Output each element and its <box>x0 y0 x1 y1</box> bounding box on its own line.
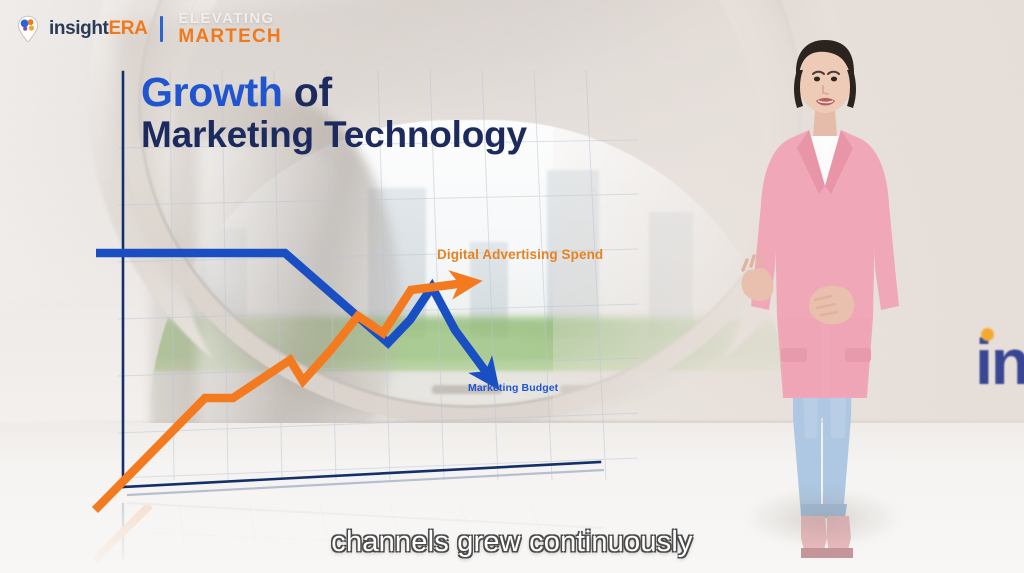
headline-growth-word: Growth <box>141 69 283 115</box>
brand-logo[interactable]: insightERA ELEVATING MARTECH <box>16 11 282 46</box>
chart-label-marketing-budget: Marketing Budget <box>468 382 558 394</box>
tagline-martech: MARTECH <box>178 27 281 46</box>
page-title: Growth of Marketing Technology <box>141 72 527 154</box>
subtitle-caption: channels grew continuously <box>0 526 1024 559</box>
brand-watermark: in <box>975 330 1024 394</box>
video-frame: Growth of Marketing Technology Digital A… <box>0 0 1024 573</box>
headline-line-1: Growth of <box>141 72 527 114</box>
headline-of-word: of <box>294 69 332 115</box>
brand-tagline: ELEVATING MARTECH <box>178 11 281 46</box>
brand-name-part2: ERA <box>108 18 147 39</box>
location-pin-logo-icon <box>16 15 40 43</box>
brand-wordmark: insightERA <box>49 19 147 38</box>
headline-line-2: Marketing Technology <box>141 116 527 154</box>
logo-divider <box>160 16 163 42</box>
presenter <box>735 18 915 573</box>
chart-label-digital-advertising-spend: Digital Advertising Spend <box>437 247 603 262</box>
tagline-elevating: ELEVATING <box>178 11 281 26</box>
brand-name-part1: insight <box>49 18 108 39</box>
